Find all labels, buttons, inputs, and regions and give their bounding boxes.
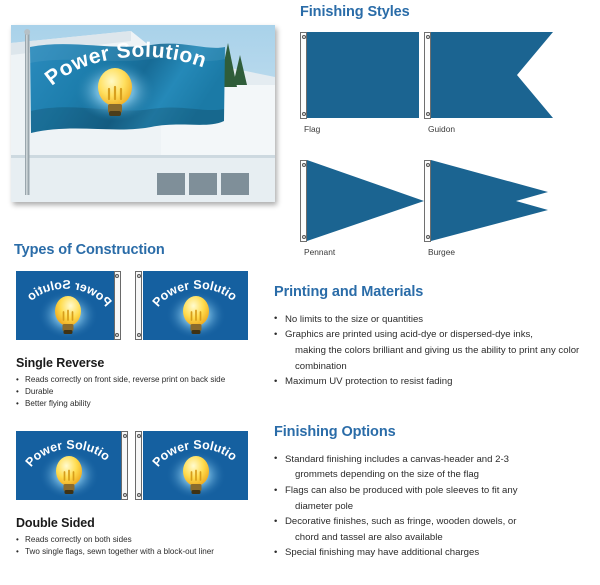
double-sided-block: Double Sided Reads correctly on both sid… bbox=[16, 516, 271, 558]
flag-artwork: Power Solutions bbox=[16, 431, 121, 500]
list-item-text: No limits to the size or quantities bbox=[285, 314, 423, 325]
list-item-text: Flags can also be produced with pole sle… bbox=[285, 485, 518, 496]
single-reverse-bullets: Reads correctly on front side, reverse p… bbox=[16, 374, 266, 410]
guidon-shape-label: Guidon bbox=[428, 124, 455, 134]
finishing-options-bullets: Standard finishing includes a canvas-hea… bbox=[274, 452, 592, 561]
canvas-header bbox=[300, 160, 307, 242]
canvas-header bbox=[424, 160, 431, 242]
list-item: Graphics are printed using acid-dye or d… bbox=[274, 327, 592, 374]
list-item-text: Decorative finishes, such as fringe, woo… bbox=[285, 516, 516, 527]
burgee-shape-label: Burgee bbox=[428, 247, 455, 257]
flag-shape-label: Flag bbox=[304, 124, 320, 134]
canvas-header bbox=[300, 32, 307, 119]
canvas-header bbox=[114, 271, 121, 340]
printing-and-materials-heading: Printing and Materials bbox=[274, 285, 592, 301]
flag-artwork: Power Solutions bbox=[143, 271, 248, 340]
printing-and-materials-section: Printing and Materials No limits to the … bbox=[274, 285, 592, 390]
list-item: Reads correctly on front side, reverse p… bbox=[16, 374, 266, 386]
finishing-style-guidon: Guidon bbox=[424, 32, 554, 136]
list-item: Durable bbox=[16, 386, 266, 398]
grommet-top bbox=[137, 274, 141, 278]
types-of-construction-heading-wrap: Types of Construction bbox=[14, 243, 165, 259]
finishing-style-flag: Flag bbox=[300, 32, 420, 136]
single-reverse-block: Single Reverse Reads correctly on front … bbox=[16, 356, 266, 410]
list-item-cont: diameter pole bbox=[285, 499, 592, 515]
burgee-shape bbox=[424, 160, 548, 242]
finishing-styles-heading-wrap: Finishing Styles bbox=[300, 5, 410, 21]
list-item: Maximum UV protection to resist fading bbox=[274, 374, 592, 390]
grommet-bottom bbox=[426, 112, 430, 116]
grommet-top bbox=[302, 35, 306, 39]
list-item: Better flying ability bbox=[16, 398, 266, 410]
flag-shape bbox=[300, 32, 419, 119]
canvas-header bbox=[135, 431, 142, 500]
finishing-styles-heading: Finishing Styles bbox=[300, 5, 410, 21]
list-item-cont: making the colors brilliant and giving u… bbox=[285, 343, 592, 374]
list-item-text: Graphics are printed using acid-dye or d… bbox=[285, 329, 533, 340]
list-item: No limits to the size or quantities bbox=[274, 312, 592, 328]
grommet-top bbox=[426, 35, 430, 39]
list-item-text: Standard finishing includes a canvas-hea… bbox=[285, 454, 509, 465]
pennant-shape bbox=[300, 160, 424, 242]
printing-and-materials-bullets: No limits to the size or quantities Grap… bbox=[274, 312, 592, 390]
flag-spec-sheet: Power Solutions Finishing Styles Flag Gu… bbox=[0, 0, 600, 585]
pennant-shape-label: Pennant bbox=[304, 247, 335, 257]
double-sided-title: Double Sided bbox=[16, 516, 271, 530]
canvas-header bbox=[135, 271, 142, 340]
double-sided-bullets: Reads correctly on both sides Two single… bbox=[16, 534, 271, 558]
finishing-options-section: Finishing Options Standard finishing inc… bbox=[274, 425, 592, 561]
flag-side-a: Power Solutions bbox=[16, 431, 121, 500]
list-item-text: Maximum UV protection to resist fading bbox=[285, 376, 452, 387]
grommet-bottom bbox=[302, 235, 306, 239]
types-of-construction-heading: Types of Construction bbox=[14, 243, 165, 259]
finishing-style-pennant: Pennant bbox=[300, 160, 430, 260]
grommet-top bbox=[302, 163, 306, 167]
flag-side-b: Power Solutions bbox=[143, 431, 248, 500]
grommet-top bbox=[123, 434, 127, 438]
flag-artwork: Power Solutions bbox=[143, 431, 248, 500]
list-item: Decorative finishes, such as fringe, woo… bbox=[274, 514, 592, 545]
list-item-cont: chord and tassel are also available bbox=[285, 530, 592, 546]
grommet-bottom bbox=[426, 235, 430, 239]
finishing-options-heading: Finishing Options bbox=[274, 425, 592, 441]
list-item-text: Special finishing may have additional ch… bbox=[285, 547, 479, 558]
flag-reverse-side: Power Solutions bbox=[16, 271, 121, 340]
grommet-bottom bbox=[115, 333, 119, 337]
grommet-bottom bbox=[137, 493, 141, 497]
flag-front-side: Power Solutions bbox=[143, 271, 248, 340]
grommet-bottom bbox=[123, 493, 127, 497]
flag-photo: Power Solutions bbox=[11, 25, 275, 202]
list-item: Two single flags, sewn together with a b… bbox=[16, 546, 271, 558]
list-item: Reads correctly on both sides bbox=[16, 534, 271, 546]
list-item: Standard finishing includes a canvas-hea… bbox=[274, 452, 592, 483]
guidon-shape bbox=[424, 32, 553, 119]
grommet-bottom bbox=[302, 112, 306, 116]
list-item: Special finishing may have additional ch… bbox=[274, 545, 592, 561]
finishing-style-burgee: Burgee bbox=[424, 160, 554, 260]
flag-artwork: Power Solutions bbox=[16, 271, 121, 340]
double-sided-flag-pair: Power Solutions bbox=[16, 431, 248, 501]
list-item-cont: grommets depending on the size of the fl… bbox=[285, 467, 592, 483]
single-reverse-title: Single Reverse bbox=[16, 356, 266, 370]
grommet-top bbox=[426, 163, 430, 167]
list-item: Flags can also be produced with pole sle… bbox=[274, 483, 592, 514]
grommet-bottom bbox=[137, 333, 141, 337]
grommet-top bbox=[137, 434, 141, 438]
single-reverse-flag-pair: Power Solutions bbox=[16, 271, 248, 341]
grommet-top bbox=[115, 274, 119, 278]
canvas-header bbox=[424, 32, 431, 119]
canvas-header bbox=[121, 431, 128, 500]
